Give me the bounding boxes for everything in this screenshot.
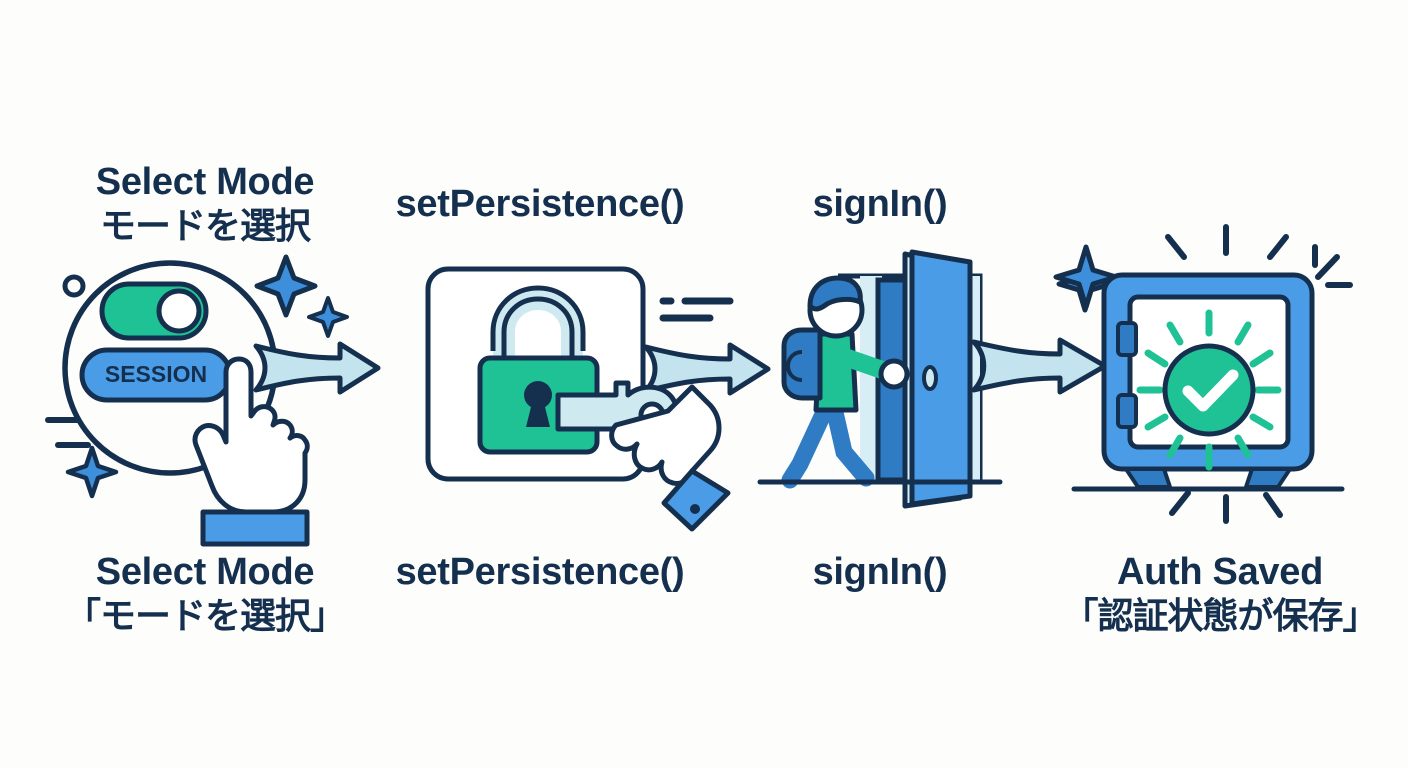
step-2-icon — [410, 255, 770, 545]
step-1-bottom-label-en: Select Mode — [40, 550, 370, 595]
step-2-top-label: setPersistence() — [380, 182, 700, 227]
step-4-icon — [1060, 225, 1400, 525]
step-3-top-label-en: signIn() — [760, 182, 1000, 227]
door-leaf — [905, 252, 970, 506]
step-1-bottom-label: Select Mode 「モードを選択」 — [40, 550, 370, 637]
step-2-top-label-en: setPersistence() — [380, 182, 700, 227]
arrow-1 — [256, 344, 378, 392]
sparkle-icon-large — [257, 257, 315, 315]
step-4-bottom-label-jp: 「認証状態が保存」 — [1050, 595, 1390, 637]
check-circle-icon — [1165, 346, 1253, 434]
step-3-bottom-label: signIn() — [760, 550, 1000, 595]
session-button[interactable]: SESSION — [82, 350, 230, 400]
step-1-icon: SESSION — [40, 240, 380, 550]
step-3-bottom-label-en: signIn() — [760, 550, 1000, 595]
diagram-canvas: Select Mode モードを選択 setPersistence() sign… — [0, 0, 1408, 768]
sparkle-icon-small — [309, 298, 347, 336]
step-3-top-label: signIn() — [760, 182, 1000, 227]
step-1-top-label-en: Select Mode — [40, 160, 370, 205]
step-4-bottom-label: Auth Saved 「認証状態が保存」 — [1050, 550, 1390, 637]
dash-decorations — [663, 301, 730, 318]
step-3-icon — [760, 248, 1110, 508]
step-2-bottom-label: setPersistence() — [380, 550, 700, 595]
small-ring-decoration — [65, 277, 83, 295]
toggle-knob[interactable] — [159, 291, 199, 331]
step-1-top-label: Select Mode モードを選択 — [40, 160, 370, 247]
step-1-bottom-label-jp: 「モードを選択」 — [40, 595, 370, 637]
step-2-bottom-label-en: setPersistence() — [380, 550, 700, 595]
session-button-label: SESSION — [105, 361, 207, 387]
safe-hinge-bottom — [1118, 395, 1136, 427]
step-4-bottom-label-en: Auth Saved — [1050, 550, 1390, 595]
mode-toggle-switch[interactable] — [102, 284, 206, 338]
arrow-2 — [646, 345, 768, 393]
safe-hinge-top — [1118, 323, 1136, 355]
door-knob — [924, 367, 936, 389]
